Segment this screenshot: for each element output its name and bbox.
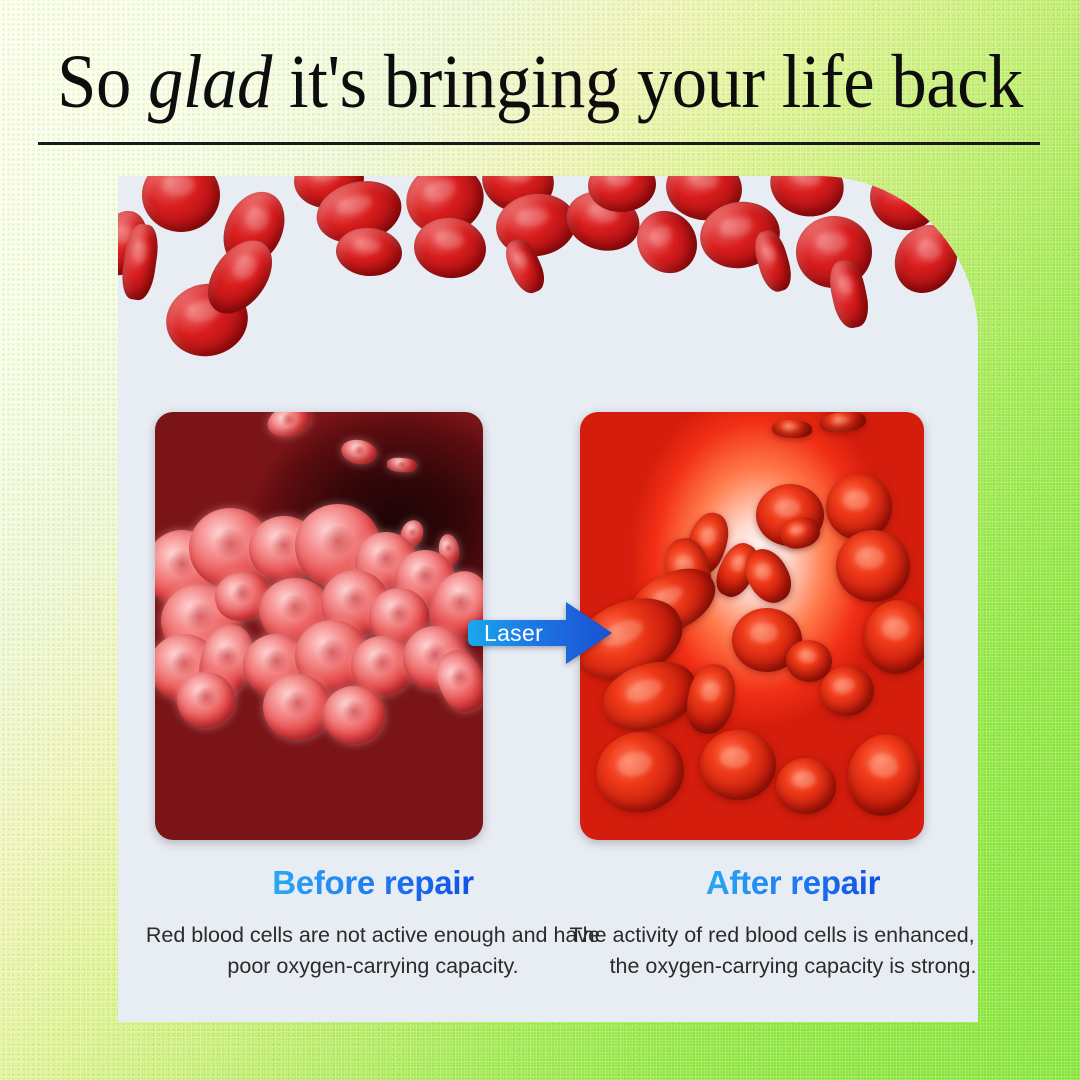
comparison-card: Laser Before repair Red blood cells are … — [118, 176, 978, 1022]
blood-cell-decorative-band — [118, 176, 978, 398]
before-repair-image — [155, 412, 483, 840]
blood-cell-icon — [339, 437, 379, 467]
laser-arrow: Laser — [468, 600, 616, 666]
blood-cell-icon — [819, 412, 867, 434]
after-repair-caption: After repair The activity of red blood c… — [558, 864, 978, 981]
headline-emphasis: glad — [148, 40, 272, 124]
blood-cell-icon — [334, 226, 403, 278]
page-title: So glad it's bringing your life back — [38, 44, 1042, 120]
blood-cell-icon — [836, 530, 910, 602]
blood-cell-icon — [263, 674, 331, 740]
laser-arrow-label: Laser — [484, 600, 543, 666]
before-repair-caption: Before repair Red blood cells are not ac… — [138, 864, 608, 981]
blood-cell-icon — [387, 457, 418, 473]
blood-cell-icon — [772, 419, 813, 438]
blood-cell-icon — [826, 474, 892, 540]
blood-cell-icon — [263, 412, 314, 442]
blood-cell-icon — [700, 730, 776, 800]
after-repair-title: After repair — [706, 864, 880, 902]
blood-cell-icon — [776, 758, 836, 814]
after-repair-image — [580, 412, 924, 840]
headline-part-1: So — [57, 40, 148, 124]
blood-cell-icon — [859, 596, 924, 678]
after-repair-body: The activity of red blood cells is enhan… — [558, 920, 978, 981]
headline-part-2: it's bringing your life back — [272, 40, 1023, 124]
before-repair-title: Before repair — [272, 864, 474, 902]
blood-cell-icon — [589, 724, 692, 821]
blood-cell-icon — [142, 176, 220, 232]
blood-cell-icon — [839, 727, 924, 824]
blood-cell-icon — [750, 227, 796, 295]
blood-cell-icon — [323, 686, 385, 744]
headline-divider — [38, 142, 1040, 145]
blood-cell-icon — [177, 672, 235, 728]
before-repair-body: Red blood cells are not active enough an… — [138, 920, 608, 981]
